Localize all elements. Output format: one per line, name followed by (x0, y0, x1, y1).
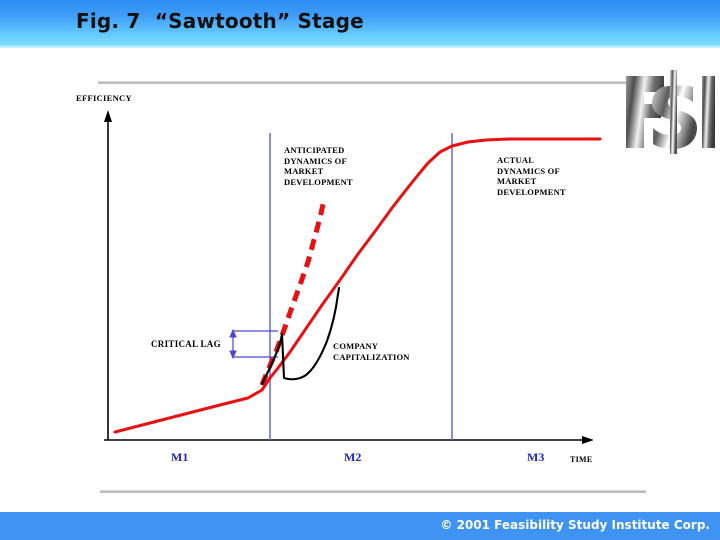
x-tick-m3: M3 (527, 450, 544, 465)
fsi-logo (618, 56, 718, 158)
divider-top (98, 81, 646, 84)
company-capitalization-curve (262, 288, 339, 384)
divider-bottom (100, 490, 646, 493)
x-axis (104, 436, 594, 444)
page-title: Fig. 7 “Sawtooth” Stage (76, 9, 364, 33)
y-axis-label: EFFICIENCY (76, 93, 132, 103)
logo-letter-i (702, 76, 715, 148)
x-tick-m2: M2 (344, 450, 361, 465)
anticipated-dynamics-curve (262, 200, 324, 385)
annotation-anticipated: ANTICIPATED DYNAMICS OF MARKET DEVELOPME… (284, 145, 353, 187)
x-tick-m1: M1 (171, 450, 188, 465)
slide-canvas: Fig. 7 “Sawtooth” Stage (0, 0, 720, 540)
header-underline (0, 45, 720, 48)
annotation-actual: ACTUAL DYNAMICS OF MARKET DEVELOPMENT (497, 155, 566, 197)
y-axis (104, 110, 112, 440)
copyright-notice: © 2001 Feasibility Study Institute Corp. (440, 518, 710, 532)
logo-dollar-stroke (670, 70, 677, 154)
annotation-critical-lag: CRITICAL LAG (151, 339, 221, 349)
x-axis-label: TIME (570, 455, 593, 464)
annotation-company-cap: COMPANY CAPITALIZATION (333, 341, 410, 363)
critical-lag-marker (230, 330, 278, 358)
